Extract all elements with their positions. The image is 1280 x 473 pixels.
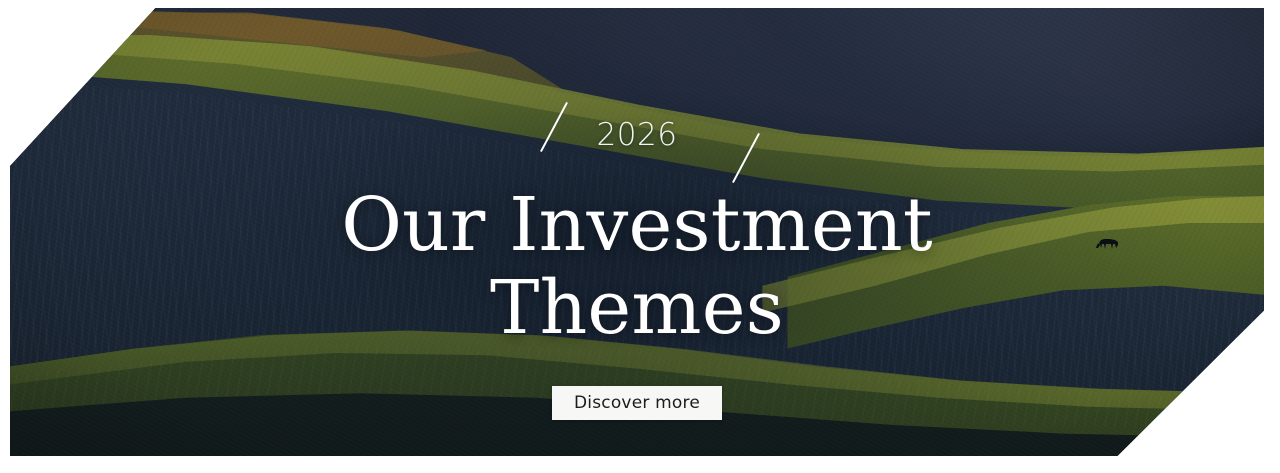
hero-year-label: 2026 [10, 120, 1264, 151]
hero-title-line-1: Our Investment [341, 182, 933, 268]
cta-container: Discover more [10, 386, 1264, 420]
hero-title-line-2: Themes [490, 265, 784, 351]
discover-more-button[interactable]: Discover more [552, 386, 722, 420]
hero-banner: 2026 Our Investment Themes Discover more [10, 8, 1264, 456]
hero-title: Our Investment Themes [10, 184, 1264, 350]
hero-banner-stage: 2026 Our Investment Themes Discover more [0, 0, 1280, 473]
hero-content-overlay: 2026 Our Investment Themes Discover more [10, 8, 1264, 456]
